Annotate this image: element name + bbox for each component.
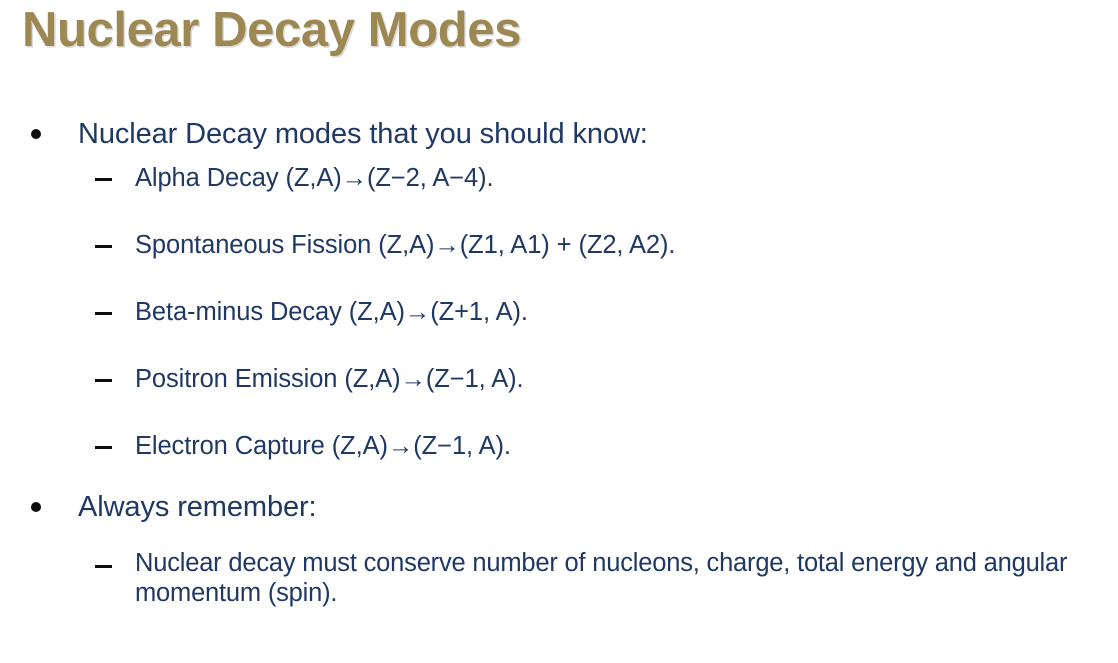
bullet-item-level1: Nuclear Decay modes that you should know… xyxy=(0,119,1118,150)
bullet-dot-icon xyxy=(31,502,41,512)
bullet-item-text: Nuclear decay must conserve number of nu… xyxy=(135,549,1067,607)
bullet-item-level2: Beta-minus Decay (Z,A)→(Z+1, A). xyxy=(0,299,1118,327)
bullet-item-text: Positron Emission (Z,A)→(Z−1, A). xyxy=(135,365,524,393)
bullet-item-text: Alpha Decay (Z,A)→(Z−2, A−4). xyxy=(135,164,493,192)
bullet-item-level1: Always remember: xyxy=(0,492,1118,523)
bullet-item-level2: Electron Capture (Z,A)→(Z−1, A). xyxy=(0,433,1118,461)
bullet-item-level2: Nuclear decay must conserve number of nu… xyxy=(0,549,1118,608)
bullet-item-text: Electron Capture (Z,A)→(Z−1, A). xyxy=(135,432,511,460)
slide-canvas: Nuclear Decay Modes Nuclear Decay modes … xyxy=(0,0,1118,663)
bullet-item-level2: Spontaneous Fission (Z,A)→(Z1, A1) + (Z2… xyxy=(0,232,1118,260)
bullet-dash-icon xyxy=(95,312,112,315)
list-item: Spontaneous Fission (Z,A)→(Z1, A1) + (Z2… xyxy=(0,232,1118,299)
list-item: Beta-minus Decay (Z,A)→(Z+1, A). xyxy=(0,299,1118,366)
slide-body-list: Nuclear Decay modes that you should know… xyxy=(0,119,1118,621)
bullet-item-level2: Positron Emission (Z,A)→(Z−1, A). xyxy=(0,366,1118,394)
bullet-dash-icon xyxy=(95,178,112,181)
list-item: Nuclear decay must conserve number of nu… xyxy=(0,549,1118,621)
bullet-item-text: Beta-minus Decay (Z,A)→(Z+1, A). xyxy=(135,298,528,326)
list-item: Alpha Decay (Z,A)→(Z−2, A−4). xyxy=(0,165,1118,232)
bullet-dash-icon xyxy=(95,245,112,248)
bullet-dash-icon xyxy=(95,379,112,382)
bullet-item-text: Spontaneous Fission (Z,A)→(Z1, A1) + (Z2… xyxy=(135,231,675,259)
bullet-dot-icon xyxy=(31,129,41,139)
bullet-item-text: Nuclear Decay modes that you should know… xyxy=(78,118,648,150)
bullet-dash-icon xyxy=(95,446,112,449)
page-title: Nuclear Decay Modes xyxy=(22,2,521,60)
list-item: Positron Emission (Z,A)→(Z−1, A). xyxy=(0,366,1118,433)
list-item: Nuclear Decay modes that you should know… xyxy=(0,119,1118,165)
bullet-dash-icon xyxy=(95,565,112,568)
list-item: Electron Capture (Z,A)→(Z−1, A). xyxy=(0,433,1118,492)
bullet-item-text: Always remember: xyxy=(78,491,317,523)
list-item: Always remember: xyxy=(0,492,1118,549)
bullet-item-level2: Alpha Decay (Z,A)→(Z−2, A−4). xyxy=(0,165,1118,193)
